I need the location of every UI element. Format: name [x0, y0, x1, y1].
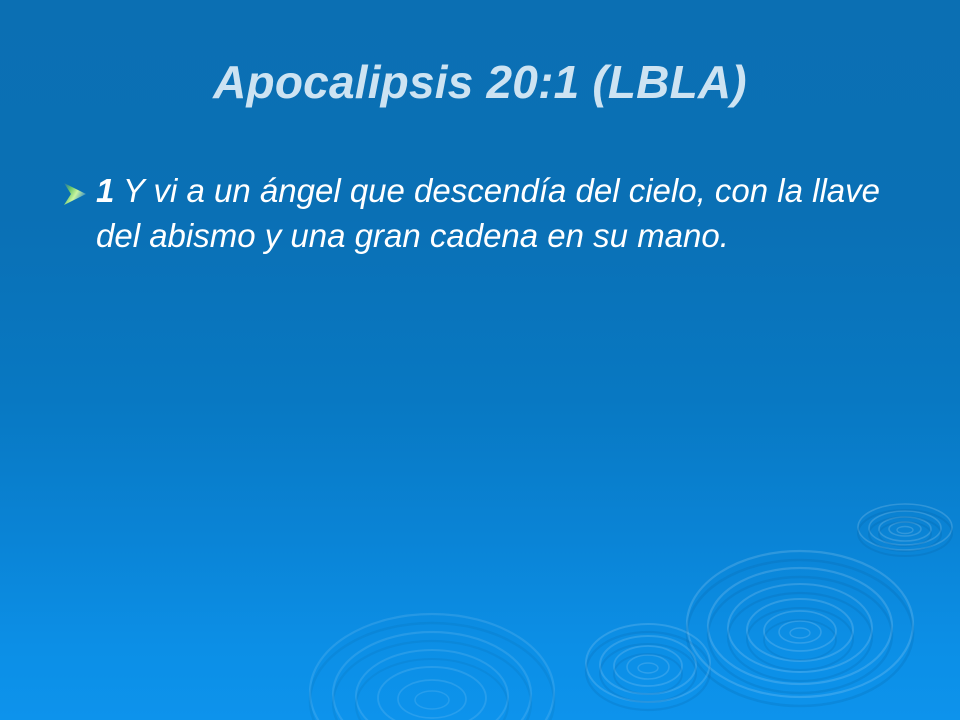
verse-number: 1: [96, 172, 114, 209]
ripple-large-center-shadow: [687, 560, 913, 706]
list-item: 1 Y vi a un ángel que descendía del ciel…: [56, 168, 906, 258]
slide-title-text: Apocalipsis 20:1 (LBLA): [60, 54, 900, 110]
ripple-small-topright: [858, 504, 952, 550]
slide-body: 1 Y vi a un ángel que descendía del ciel…: [56, 168, 906, 258]
verse-paragraph: 1 Y vi a un ángel que descendía del ciel…: [96, 168, 906, 258]
presentation-slide: Apocalipsis 20:1 (LBLA) 1 Y vi a un ánge…: [0, 0, 960, 720]
ripple-small-topright-shadow: [858, 510, 952, 556]
arrow-bullet-icon: [62, 182, 88, 206]
ripple-medium-bottomleft-shadow: [586, 632, 710, 710]
ripple-medium-bottomleft: [586, 624, 710, 702]
ripple-large-bottomcenter-shadow: [310, 623, 554, 720]
ripple-large-center: [687, 551, 913, 697]
ripple-large-bottomcenter: [310, 614, 554, 720]
slide-title: Apocalipsis 20:1 (LBLA): [60, 54, 900, 110]
verse-body-text: Y vi a un ángel que descendía del cielo,…: [96, 172, 880, 254]
